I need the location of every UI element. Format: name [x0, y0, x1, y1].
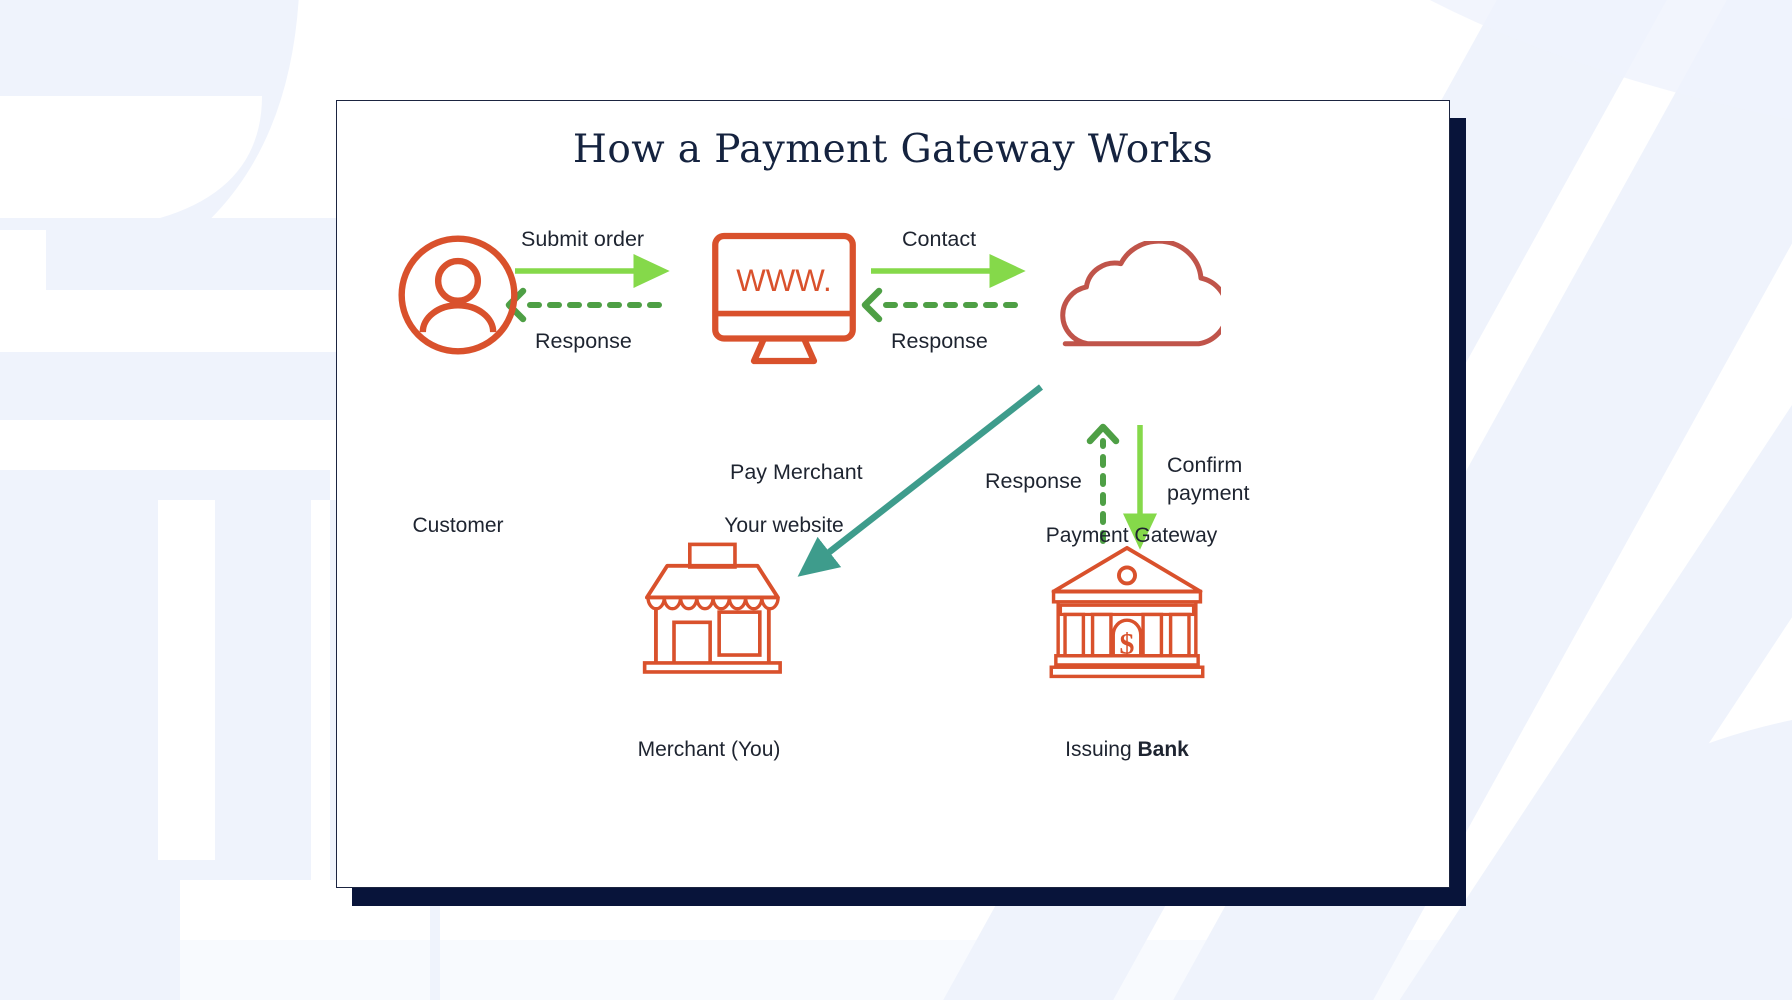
node-label-merchant: Merchant (You) — [638, 738, 781, 762]
monitor-screen-text: WWW. — [736, 263, 831, 298]
flow-label-confirm-payment: Confirm payment — [1167, 451, 1249, 508]
flow-label-contact: Contact — [902, 225, 976, 253]
confirm-payment-line-1: Confirm — [1167, 451, 1249, 479]
node-label-bank-plain: Issuing — [1065, 738, 1137, 761]
bank-icon: $ — [1046, 541, 1208, 681]
node-label-customer: Customer — [412, 514, 503, 538]
flow-label-response-bank: Response — [985, 467, 1082, 495]
node-label-bank-bold: Bank — [1138, 738, 1189, 761]
user-circle-icon — [394, 231, 522, 359]
confirm-payment-line-2: payment — [1167, 479, 1249, 507]
connectors-layer — [337, 101, 1451, 889]
cloud-icon — [1043, 241, 1221, 353]
flow-label-pay-merchant: Pay Merchant — [730, 458, 863, 486]
node-customer[interactable]: Customer — [363, 231, 553, 406]
node-label-website: Your website — [724, 514, 843, 538]
node-website[interactable]: WWW. Your website — [689, 231, 879, 416]
node-merchant[interactable]: Merchant (You) — [609, 541, 809, 736]
storefront-icon — [635, 541, 783, 681]
arrow-response-gateway — [865, 291, 1015, 319]
node-label-bank: Issuing Bank — [1065, 738, 1189, 762]
monitor-www-icon: WWW. — [709, 231, 859, 366]
diagram-card: How a Payment Gateway Works — [336, 100, 1450, 888]
node-bank[interactable]: $ Issuing Bank — [1027, 541, 1227, 736]
node-gateway[interactable]: Payment Gateway — [1029, 241, 1234, 401]
flow-label-response-gateway: Response — [891, 327, 988, 355]
